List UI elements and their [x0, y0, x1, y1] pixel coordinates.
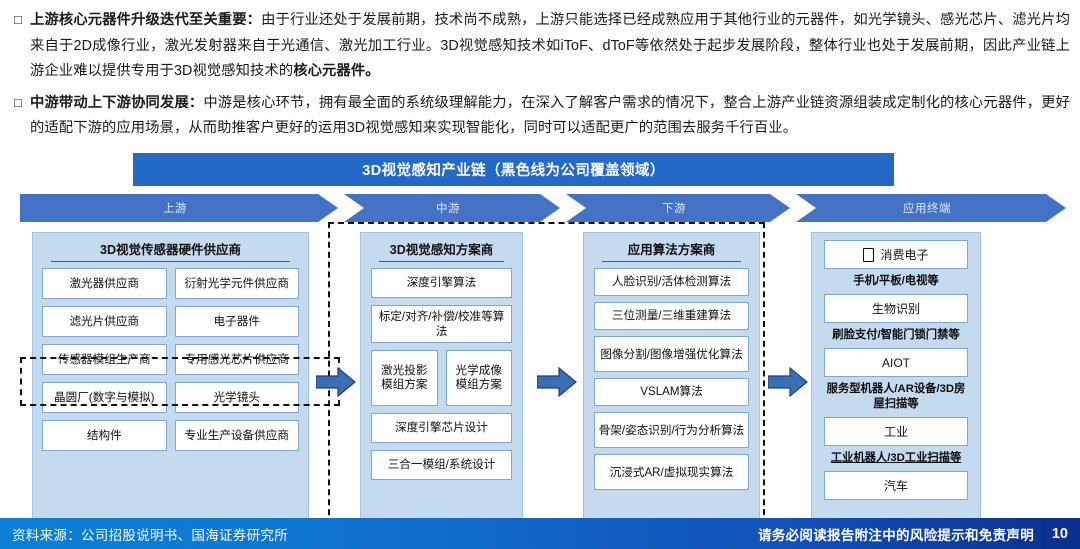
terminal-box-label: 汽车: [884, 477, 908, 494]
midstream-cell[interactable]: 深度引擎算法: [371, 268, 512, 298]
upstream-cell-grid: 激光器供应商 衍射光学元件供应商 滤光片供应商 电子器件 传感器模组生产商 专用…: [33, 268, 308, 451]
midstream-cell[interactable]: 标定/对齐/补偿/校准等算法: [371, 305, 512, 343]
cell-line-1: 激光投影: [381, 364, 427, 378]
footer-source: 资料来源：公司招股说明书、国海证券研究所: [12, 524, 288, 544]
terminal-box-label: 消费电子: [880, 246, 928, 263]
stage-chevron-band: 上游 中游 下游 应用终端: [20, 194, 1066, 222]
chain-title-banner: 3D视觉感知产业链（黑色线为公司覆盖领域）: [133, 153, 894, 186]
upstream-cell[interactable]: 专用感光芯片供应商: [175, 344, 300, 375]
terminal-box-label: 生物识别: [872, 300, 920, 317]
arrow-midstream-to-downstream: [537, 367, 577, 397]
arrow-upstream-to-midstream: [316, 367, 356, 397]
terminal-box-aiot[interactable]: AIOT: [824, 348, 968, 377]
bullet-paragraph: 上游核心元器件升级迭代至关重要：由于行业还处于发展前期，技术尚不成熟，上游只能选…: [30, 8, 1070, 85]
bullet-lead: 上游核心元器件升级迭代至关重要：: [30, 12, 261, 28]
downstream-cell[interactable]: 图像分割/图像增强优化算法: [594, 336, 749, 372]
terminal-box-biometrics[interactable]: 生物识别: [824, 294, 968, 323]
slide-page: □ 上游核心元器件升级迭代至关重要：由于行业还处于发展前期，技术尚不成熟，上游只…: [0, 0, 1080, 549]
heading-divider: [379, 261, 504, 262]
upstream-heading: 3D视觉传感器硬件供应商: [33, 233, 308, 261]
stage-label: 中游: [436, 200, 460, 216]
midstream-cell-stack: 深度引擎算法 标定/对齐/补偿/校准等算法 激光投影 模组方案 光学成像 模组方…: [361, 268, 522, 480]
midstream-module-pair: 激光投影 模组方案 光学成像 模组方案: [371, 350, 512, 406]
bullet-paragraph: 中游带动上下游协同发展：中游是核心环节，拥有最全面的系统级理解能力，在深入了解客…: [30, 91, 1070, 142]
terminal-box-automotive[interactable]: 汽车: [824, 471, 968, 500]
bullet-list: □ 上游核心元器件升级迭代至关重要：由于行业还处于发展前期，技术尚不成熟，上游只…: [14, 8, 1070, 148]
list-item: □ 上游核心元器件升级迭代至关重要：由于行业还处于发展前期，技术尚不成熟，上游只…: [14, 8, 1070, 85]
terminal-note: 服务型机器人/AR设备/3D房屋扫描等: [824, 377, 968, 417]
terminal-box-industrial[interactable]: 工业: [824, 417, 968, 446]
upstream-cell[interactable]: 光学镜头: [175, 382, 300, 413]
heading-divider: [602, 261, 741, 262]
square-bullet-icon: □: [14, 8, 30, 32]
downstream-cell[interactable]: 人脸识别/活体检测算法: [594, 268, 749, 296]
downstream-heading: 应用算法方案商: [584, 233, 759, 261]
device-icon: [863, 248, 874, 262]
upstream-cell[interactable]: 晶圆厂(数字与模拟): [42, 382, 167, 413]
cell-line-2: 模组方案: [456, 378, 502, 392]
upstream-cell[interactable]: 衍射光学元件供应商: [175, 268, 300, 299]
footer-bar: 资料来源：公司招股说明书、国海证券研究所 请务必阅读报告附注中的风险提示和免责声…: [0, 518, 1080, 549]
footer-disclaimer: 请务必阅读报告附注中的风险提示和免责声明: [758, 524, 1034, 544]
downstream-cell[interactable]: 沉浸式AR/虚拟现实算法: [594, 454, 749, 490]
upstream-panel: 3D视觉传感器硬件供应商 激光器供应商 衍射光学元件供应商 滤光片供应商 电子器…: [32, 232, 309, 519]
terminal-panel: 消费电子 手机/平板/电视等 生物识别 刷脸支付/智能门锁门禁等 AIOT 服务…: [811, 232, 981, 519]
midstream-cell[interactable]: 深度引擎芯片设计: [371, 413, 512, 443]
upstream-cell[interactable]: 传感器模组生产商: [42, 344, 167, 375]
upstream-cell[interactable]: 专业生产设备供应商: [175, 420, 300, 451]
square-bullet-icon: □: [14, 91, 30, 115]
stage-label: 应用终端: [903, 200, 951, 216]
midstream-cell-optical-imaging[interactable]: 光学成像 模组方案: [446, 350, 513, 406]
stage-downstream[interactable]: 下游: [566, 194, 790, 222]
stage-label: 下游: [662, 200, 686, 216]
downstream-panel: 应用算法方案商 人脸识别/活体检测算法 三位测量/三维重建算法 图像分割/图像增…: [583, 232, 760, 519]
midstream-cell-laser-projection[interactable]: 激光投影 模组方案: [371, 350, 438, 406]
midstream-heading: 3D视觉感知方案商: [361, 233, 522, 261]
terminal-box-label: 工业: [884, 423, 908, 440]
downstream-cell[interactable]: VSLAM算法: [594, 378, 749, 406]
terminal-note: 工业机器人/3D工业扫描等: [824, 446, 968, 471]
upstream-cell[interactable]: 激光器供应商: [42, 268, 167, 299]
midstream-cell[interactable]: 三合一模组/系统设计: [371, 450, 512, 480]
downstream-cell[interactable]: 三位测量/三维重建算法: [594, 302, 749, 330]
stage-application-terminal[interactable]: 应用终端: [796, 194, 1066, 222]
terminal-box-label: AIOT: [882, 356, 910, 370]
page-number: 10: [1052, 526, 1068, 542]
terminal-stack: 消费电子 手机/平板/电视等 生物识别 刷脸支付/智能门锁门禁等 AIOT 服务…: [812, 233, 980, 500]
upstream-cell[interactable]: 滤光片供应商: [42, 306, 167, 337]
list-item: □ 中游带动上下游协同发展：中游是核心环节，拥有最全面的系统级理解能力，在深入了…: [14, 91, 1070, 142]
stage-midstream[interactable]: 中游: [344, 194, 560, 222]
cell-line-1: 光学成像: [456, 364, 502, 378]
bullet-lead: 中游带动上下游协同发展：: [30, 95, 203, 111]
stage-label: 上游: [163, 200, 187, 216]
terminal-note: 手机/平板/电视等: [824, 269, 968, 294]
upstream-cell[interactable]: 电子器件: [175, 306, 300, 337]
downstream-cell-stack: 人脸识别/活体检测算法 三位测量/三维重建算法 图像分割/图像增强优化算法 VS…: [584, 268, 759, 490]
terminal-note: 刷脸支付/智能门锁门禁等: [824, 323, 968, 348]
bullet-tail: 核心元器件。: [293, 63, 379, 79]
heading-divider: [51, 261, 290, 262]
upstream-cell[interactable]: 结构件: [42, 420, 167, 451]
arrow-downstream-to-terminal: [768, 367, 808, 397]
midstream-panel: 3D视觉感知方案商 深度引擎算法 标定/对齐/补偿/校准等算法 激光投影 模组方…: [360, 232, 523, 519]
terminal-box-consumer-electronics[interactable]: 消费电子: [824, 240, 968, 269]
cell-line-2: 模组方案: [381, 378, 427, 392]
downstream-cell[interactable]: 骨架/姿态识别/行为分析算法: [594, 412, 749, 448]
stage-upstream[interactable]: 上游: [20, 194, 338, 222]
chain-title-text: 3D视觉感知产业链（黑色线为公司覆盖领域）: [362, 159, 664, 180]
